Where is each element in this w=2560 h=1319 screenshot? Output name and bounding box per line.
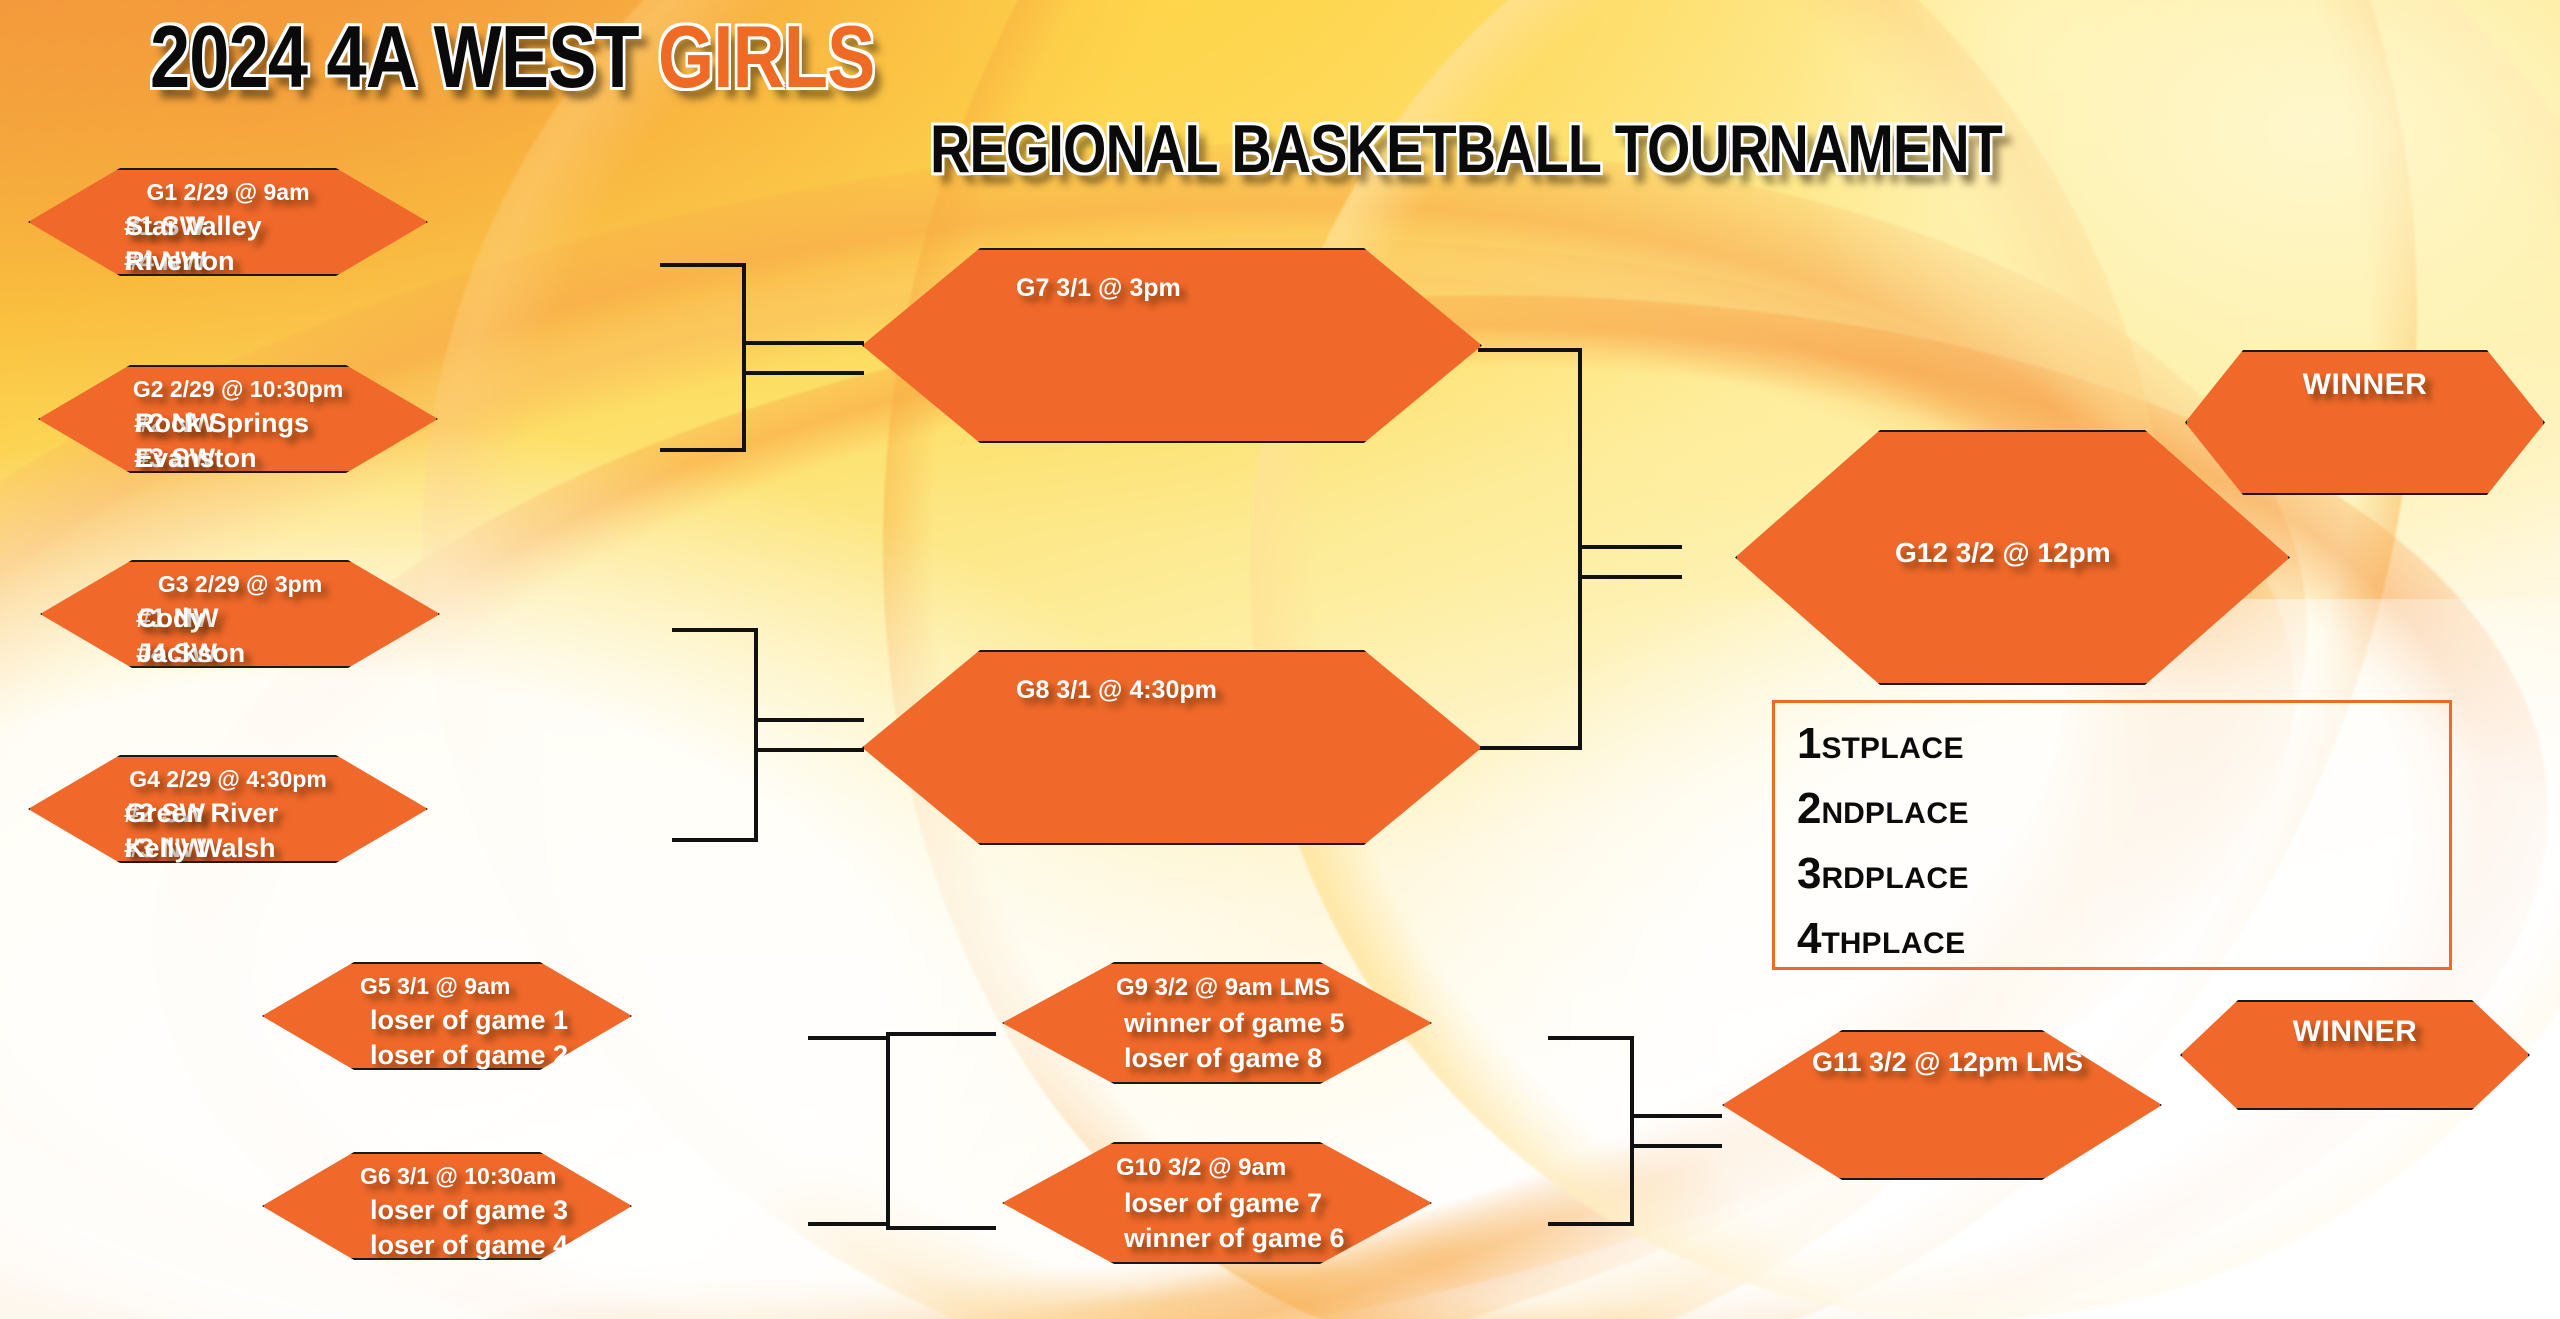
placement-number: 1 bbox=[1797, 719, 1821, 768]
connector-line bbox=[1548, 1222, 1634, 1226]
connector-line bbox=[886, 1226, 996, 1230]
poster-title-line-1: 2024 4A WEST GIRLS bbox=[150, 6, 874, 108]
team-name: Star Valley bbox=[125, 211, 262, 241]
game-source-top: winner of game 5 bbox=[1004, 1008, 1430, 1039]
placement-row-2: 2NDPLACE bbox=[1797, 784, 1969, 834]
placement-label: PLACE bbox=[1865, 862, 1969, 895]
placement-label: PLACE bbox=[1865, 797, 1969, 830]
placement-suffix: RD bbox=[1821, 862, 1864, 895]
connector-line bbox=[1578, 348, 1582, 750]
connector-line bbox=[1630, 1144, 1722, 1148]
team-name: Kelly Walsh bbox=[125, 833, 276, 863]
poster-title-line-2: REGIONAL BASKETBALL TOURNAMENT bbox=[930, 110, 2002, 188]
game-header: G7 3/1 @ 3pm bbox=[864, 274, 1480, 303]
placement-row-3: 3RDPLACE bbox=[1797, 849, 1969, 899]
connector-line bbox=[1478, 348, 1582, 352]
connector-line bbox=[754, 748, 864, 752]
connector-line bbox=[754, 628, 758, 842]
game-matchup-top: #2 SWGreen River bbox=[30, 798, 426, 829]
placement-panel: 1STPLACE 2NDPLACE 3RDPLACE 4THPLACE bbox=[1772, 700, 2452, 970]
winner-label: WINNER bbox=[2187, 368, 2543, 402]
connector-line bbox=[660, 448, 746, 452]
placement-number: 2 bbox=[1797, 784, 1821, 833]
game-source-top: loser of game 7 bbox=[1004, 1188, 1430, 1219]
team-name: Evanston bbox=[135, 443, 257, 473]
placement-suffix: TH bbox=[1821, 927, 1861, 960]
game-box-g7[interactable]: G7 3/1 @ 3pm bbox=[862, 248, 1482, 443]
title-accent-text: GIRLS bbox=[658, 7, 874, 106]
placement-suffix: ST bbox=[1821, 732, 1859, 765]
connector-line bbox=[742, 263, 746, 452]
game-box-g8[interactable]: G8 3/1 @ 4:30pm bbox=[862, 650, 1482, 845]
winner-box-championship[interactable]: WINNER bbox=[2185, 350, 2545, 495]
title-main-text: 2024 4A WEST bbox=[150, 7, 658, 106]
connector-line bbox=[886, 1036, 890, 1226]
game-source-top: loser of game 1 bbox=[264, 1005, 630, 1036]
game-source-top: loser of game 3 bbox=[264, 1195, 630, 1226]
connector-line bbox=[1630, 1114, 1722, 1118]
connector-line bbox=[672, 838, 758, 842]
winner-box-consolation[interactable]: WINNER bbox=[2180, 1000, 2530, 1110]
team-name: Jackson bbox=[137, 638, 245, 668]
placement-row-4: 4THPLACE bbox=[1797, 914, 1966, 964]
placement-suffix: ND bbox=[1821, 797, 1864, 830]
connector-line bbox=[1478, 746, 1582, 750]
connector-line bbox=[1578, 545, 1682, 549]
connector-line bbox=[886, 1032, 996, 1036]
connector-line bbox=[754, 718, 864, 722]
connector-line bbox=[660, 263, 746, 267]
connector-line bbox=[742, 341, 864, 345]
game-matchup-top: #2 NWRock Springs bbox=[40, 408, 436, 439]
winner-label: WINNER bbox=[2182, 1015, 2528, 1049]
connector-line bbox=[1578, 575, 1682, 579]
placement-label: PLACE bbox=[1860, 732, 1964, 765]
placement-number: 3 bbox=[1797, 849, 1821, 898]
connector-line bbox=[808, 1222, 890, 1226]
connector-line bbox=[1630, 1036, 1634, 1226]
team-name: Green River bbox=[125, 798, 278, 828]
connector-line bbox=[1548, 1036, 1634, 1040]
connector-line bbox=[672, 628, 758, 632]
placement-row-1: 1STPLACE bbox=[1797, 719, 1964, 769]
team-name: Riverton bbox=[125, 246, 235, 276]
game-matchup-top: #1 NWCody bbox=[42, 603, 438, 634]
game-header: G12 3/2 @ 12pm bbox=[1737, 537, 2288, 569]
placement-label: PLACE bbox=[1861, 927, 1965, 960]
bracket-poster: 2024 4A WEST GIRLS REGIONAL BASKETBALL T… bbox=[0, 0, 2560, 1319]
team-name: Cody bbox=[137, 603, 205, 633]
placement-number: 4 bbox=[1797, 914, 1821, 963]
game-matchup-top: #1 SWStar Valley bbox=[30, 211, 426, 242]
team-name: Rock Springs bbox=[135, 408, 309, 438]
game-header: G8 3/1 @ 4:30pm bbox=[864, 676, 1480, 705]
connector-line bbox=[808, 1036, 890, 1040]
connector-line bbox=[742, 371, 864, 375]
